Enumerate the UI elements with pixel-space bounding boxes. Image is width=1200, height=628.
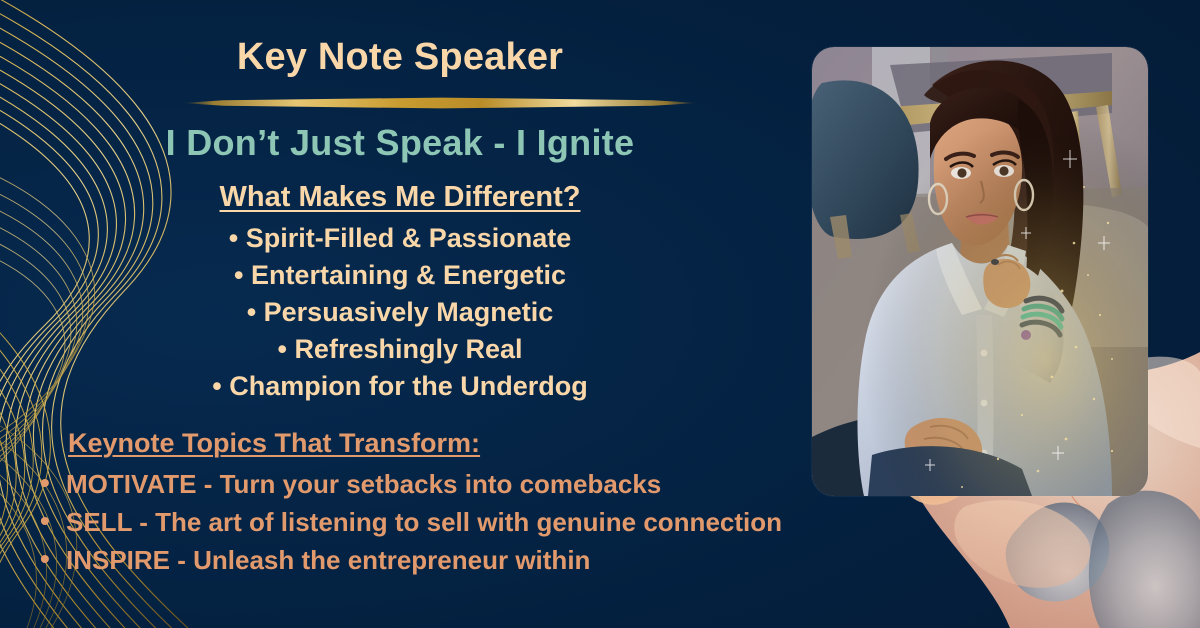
page-title: Key Note Speaker [0, 36, 800, 79]
speaker-portrait-photo [812, 47, 1148, 496]
list-item: MOTIVATE - Turn your setbacks into comeb… [36, 465, 782, 503]
topics-heading: Keynote Topics That Transform: [68, 428, 480, 459]
topics-list: MOTIVATE - Turn your setbacks into comeb… [36, 465, 782, 579]
headline: I Don’t Just Speak - I Ignite [0, 122, 800, 164]
text-column: Key Note Speaker [0, 0, 800, 628]
list-item: • Spirit-Filled & Passionate [0, 220, 800, 257]
list-item: • Persuasively Magnetic [0, 294, 800, 331]
differentiators-list: • Spirit-Filled & Passionate • Entertain… [0, 220, 800, 405]
list-item: • Entertaining & Energetic [0, 257, 800, 294]
list-item: • Champion for the Underdog [0, 368, 800, 405]
poster-canvas: Key Note Speaker [0, 0, 1200, 628]
gold-divider-line [183, 96, 698, 110]
differentiators-heading: What Makes Me Different? [0, 181, 800, 214]
list-item: INSPIRE - Unleash the entrepreneur withi… [36, 541, 782, 579]
list-item: SELL - The art of listening to sell with… [36, 503, 782, 541]
list-item: • Refreshingly Real [0, 331, 800, 368]
